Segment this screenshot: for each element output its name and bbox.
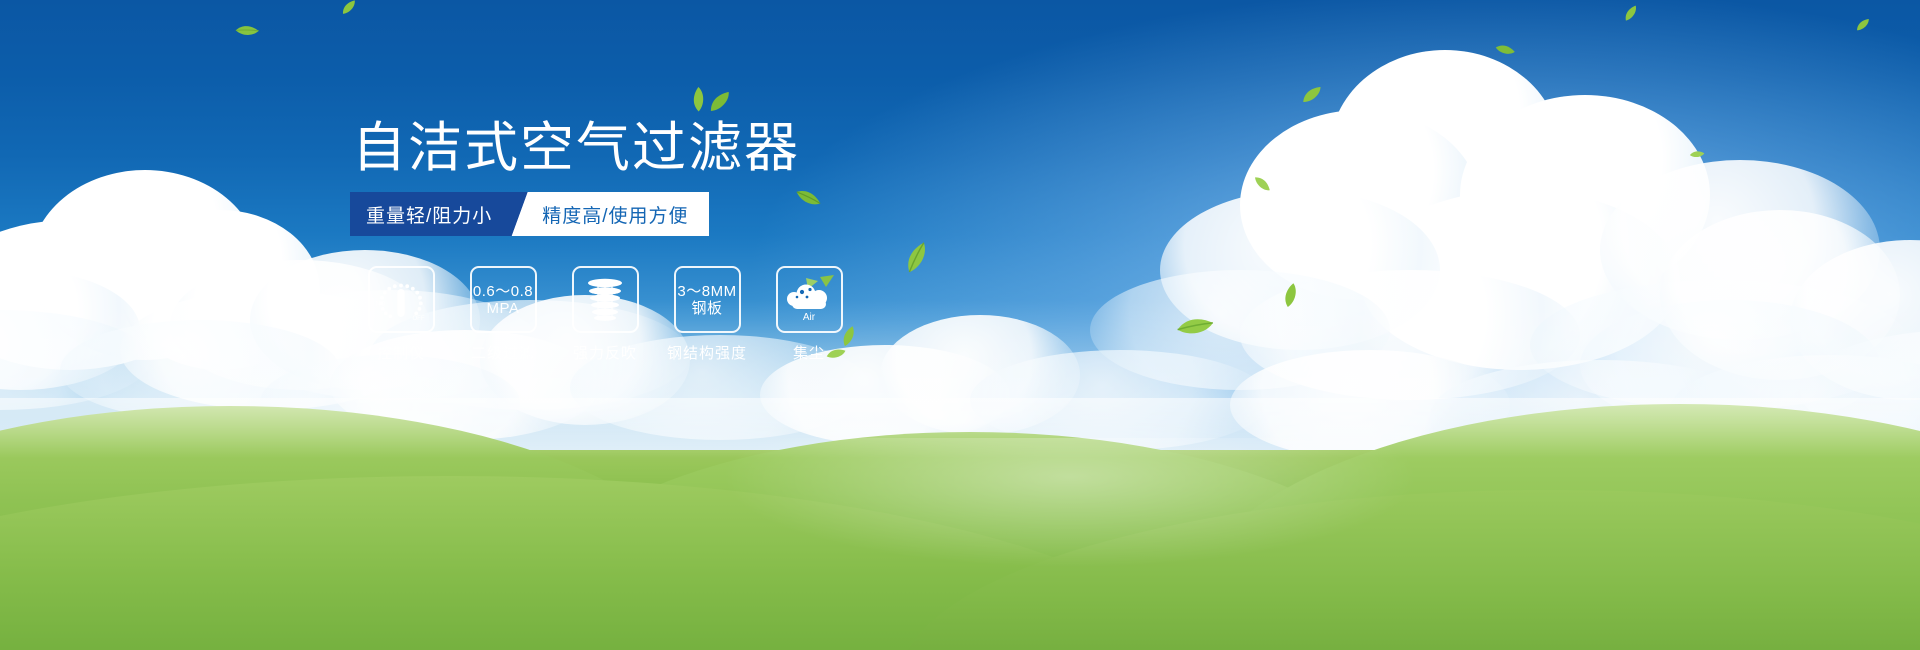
feature-label: 控制仪 (377, 342, 425, 363)
feature-icon-box (572, 266, 639, 333)
feature-label: 二级过滤 (471, 342, 535, 363)
svg-text:Air: Air (803, 312, 816, 323)
gauge-dial-icon: NO OFF (374, 275, 428, 325)
feature-list: NO OFF 控制仪 0.6〜0.8 MPA 二级过滤 (350, 266, 860, 363)
banner-content: 自洁式空气过滤器 重量轻/阻力小 精度高/使用方便 (0, 0, 1920, 650)
feature-item-pressure: 0.6〜0.8 MPA 二级过滤 (452, 266, 554, 363)
filter-cartridge-icon (581, 275, 629, 325)
tagline-left: 重量轻/阻力小 (350, 192, 510, 236)
steel-value-line1: 3〜8MM (677, 283, 736, 300)
cloud-air-icon: Air (782, 275, 836, 325)
tagline-right: 精度高/使用方便 (532, 192, 708, 236)
pressure-text-icon: 0.6〜0.8 MPA (473, 283, 533, 317)
feature-item-dust: Air 集尘 (758, 266, 860, 363)
steel-value-line2: 钢板 (677, 300, 736, 317)
page-title: 自洁式空气过滤器 (352, 119, 800, 177)
feature-icon-box: NO OFF (368, 266, 435, 333)
feature-label: 集尘 (793, 342, 825, 363)
feature-item-steel: 3〜8MM 钢板 钢结构强度 (656, 266, 758, 363)
feature-icon-box: 3〜8MM 钢板 (674, 266, 741, 333)
pressure-value-line1: 0.6〜0.8 (473, 283, 533, 300)
svg-text:NO: NO (376, 300, 386, 307)
feature-icon-box: Air (776, 266, 843, 333)
feature-label: 强力反吹 (573, 342, 637, 363)
feature-item-control-gauge: NO OFF 控制仪 (350, 266, 452, 363)
hero-banner: 自洁式空气过滤器 重量轻/阻力小 精度高/使用方便 (0, 0, 1920, 650)
tagline-divider (510, 192, 532, 236)
feature-label: 钢结构强度 (667, 342, 747, 363)
steel-plate-text-icon: 3〜8MM 钢板 (677, 283, 736, 317)
feature-icon-box: 0.6〜0.8 MPA (470, 266, 537, 333)
svg-text:OFF: OFF (413, 316, 425, 322)
tagline-bar: 重量轻/阻力小 精度高/使用方便 (350, 192, 709, 236)
feature-item-backblow: 强力反吹 (554, 266, 656, 363)
pressure-value-line2: MPA (473, 300, 533, 317)
